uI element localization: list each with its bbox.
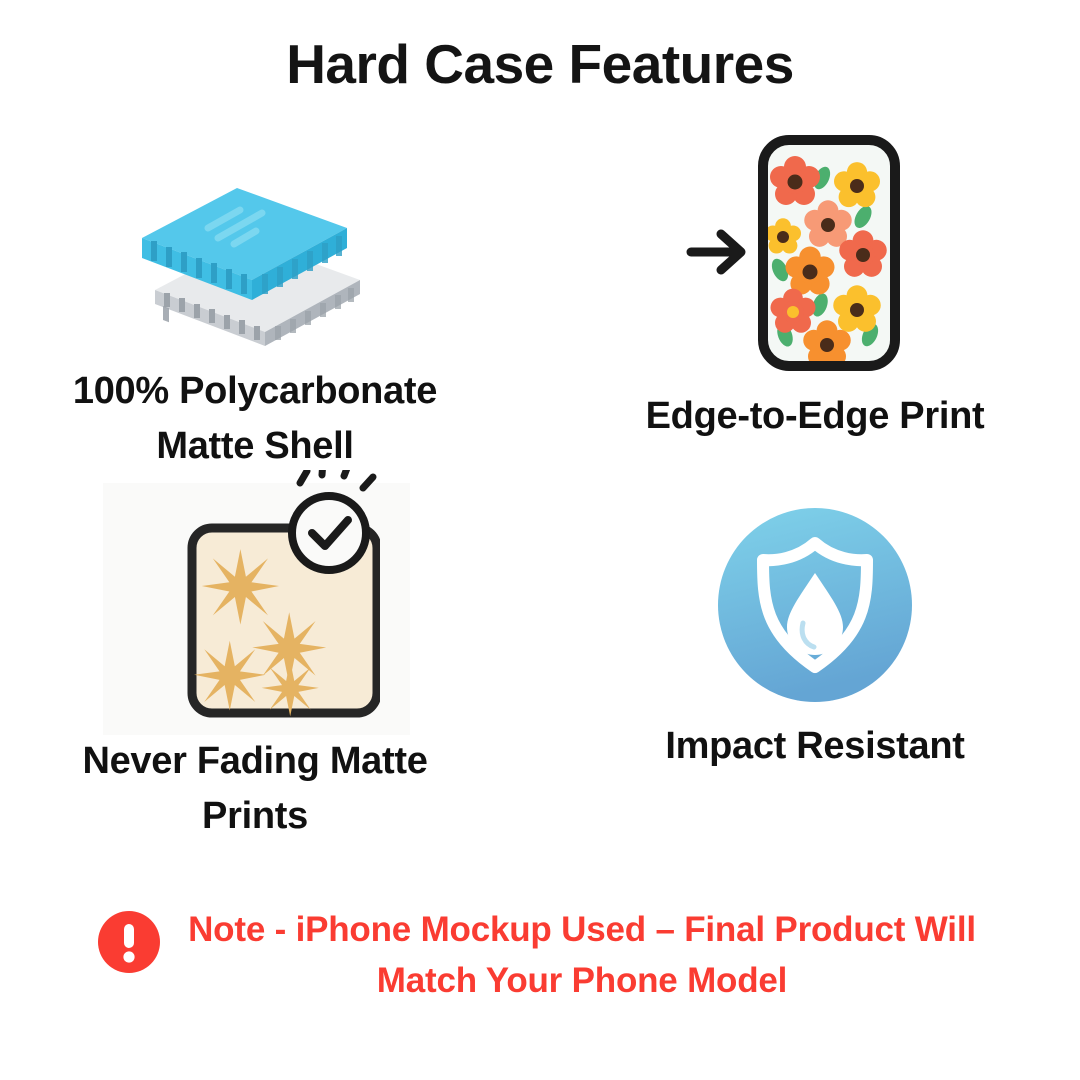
shield-droplet-icon bbox=[715, 505, 915, 705]
exclamation-circle-icon bbox=[98, 911, 160, 973]
feature-impact-art bbox=[565, 505, 1065, 705]
feature-edge-print: Edge-to-Edge Print bbox=[565, 130, 1065, 444]
feature-never-fading-art bbox=[5, 470, 505, 720]
sparkle-swatch-check-icon bbox=[130, 470, 380, 720]
floral-phone-case-icon bbox=[685, 130, 945, 375]
page-title: Hard Case Features bbox=[0, 34, 1080, 95]
feature-edge-print-art bbox=[565, 130, 1065, 375]
feature-polycarbonate-label: 100% Polycarbonate Matte Shell bbox=[5, 364, 505, 474]
feature-polycarbonate: 100% Polycarbonate Matte Shell bbox=[5, 150, 505, 474]
check-badge-icon bbox=[289, 470, 373, 573]
note-text: Note - iPhone Mockup Used – Final Produc… bbox=[182, 905, 982, 1007]
feature-polycarbonate-art bbox=[5, 150, 505, 350]
feature-edge-print-label: Edge-to-Edge Print bbox=[565, 389, 1065, 444]
feature-impact-label: Impact Resistant bbox=[565, 719, 1065, 774]
feature-never-fading-label: Never Fading Matte Prints bbox=[5, 734, 505, 844]
arrow-right-icon bbox=[691, 234, 741, 270]
note-banner: Note - iPhone Mockup Used – Final Produc… bbox=[0, 905, 1080, 1007]
feature-never-fading: Never Fading Matte Prints bbox=[5, 470, 505, 844]
feature-impact: Impact Resistant bbox=[565, 505, 1065, 774]
layered-slabs-icon bbox=[130, 150, 380, 350]
